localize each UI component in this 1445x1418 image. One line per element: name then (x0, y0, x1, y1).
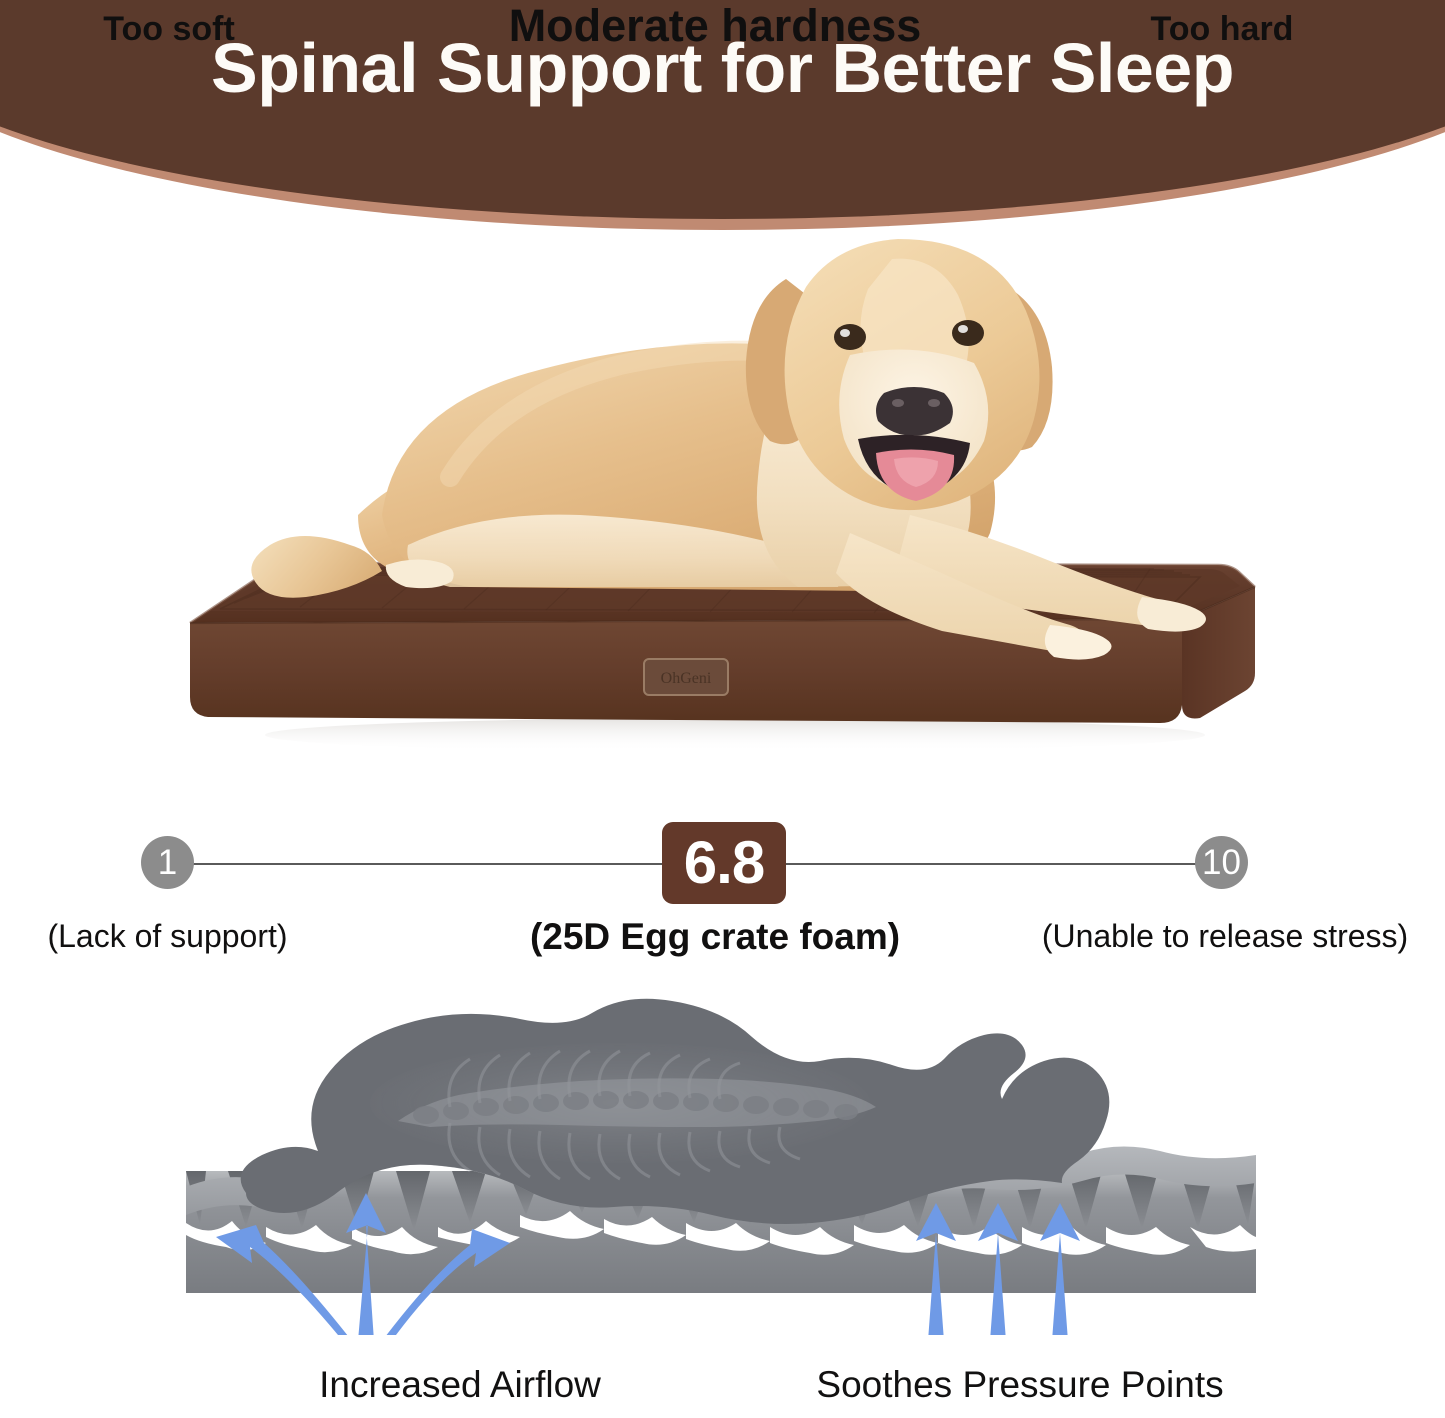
dog-eye-right (952, 320, 984, 346)
dog-eye-right-glint (958, 325, 968, 333)
scale-marker-min: 1 (141, 836, 194, 889)
dog-nose (876, 387, 953, 435)
scale-sub-too-hard: (Unable to release stress) (1010, 918, 1440, 955)
scale-marker-max: 10 (1195, 836, 1248, 889)
bed-shadow (265, 718, 1205, 752)
brand-logo-tag: OhGeni (644, 659, 728, 695)
scale-label-too-soft: Too soft (58, 10, 280, 49)
scale-sub-moderate: (25D Egg crate foam) (455, 916, 975, 958)
infographic-page: Spinal Support for Better Sleep (0, 0, 1445, 1418)
dog-eye-left (834, 324, 866, 350)
dog-eye-left-glint (840, 329, 850, 337)
caption-increased-airflow: Increased Airflow (175, 1365, 745, 1406)
foam-cross-section-diagram (0, 975, 1445, 1335)
caption-soothes-pressure-points: Soothes Pressure Points (690, 1365, 1350, 1406)
scale-sub-too-soft: (Lack of support) (10, 918, 325, 955)
product-photo: OhGeni (150, 215, 1290, 755)
scale-label-too-hard: Too hard (1108, 10, 1336, 49)
dog-nostril-right (928, 399, 940, 407)
brand-logo-text: OhGeni (661, 670, 712, 687)
egg-crate-foam-diagram (0, 975, 1445, 1335)
dog-nostril-left (892, 399, 904, 407)
scale-label-moderate: Moderate hardness (455, 0, 975, 52)
hardness-score-badge: 6.8 (662, 822, 786, 904)
dog-on-bed-illustration: OhGeni (150, 215, 1290, 755)
